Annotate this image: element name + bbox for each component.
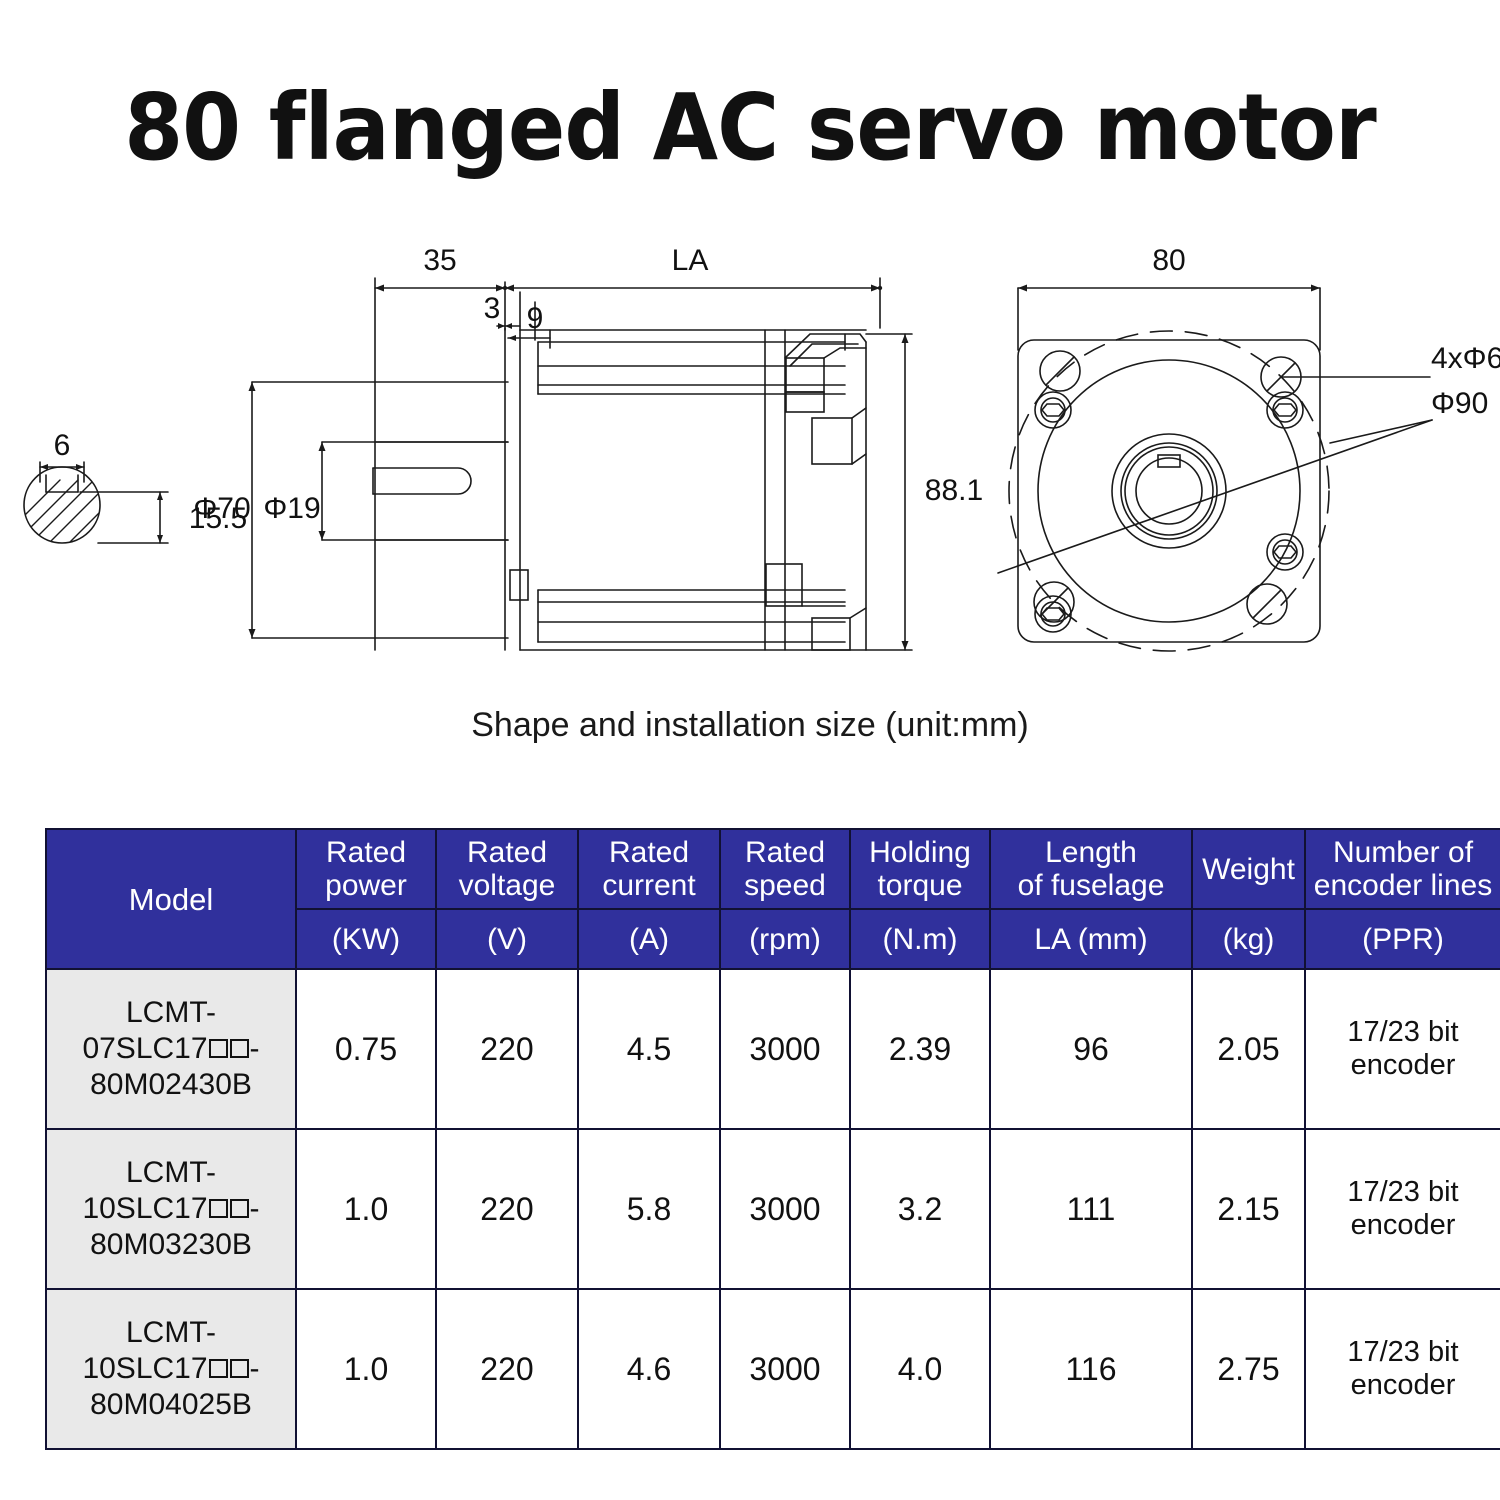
placeholder-box-icon (209, 1359, 228, 1378)
model-line2-suffix: - (250, 1192, 260, 1225)
cell-encoder: 17/23 bit encoder (1305, 1129, 1500, 1289)
col-header-rated-power: Rated power (296, 829, 436, 909)
cell-weight: 2.05 (1192, 969, 1305, 1129)
placeholder-box-icon (230, 1359, 249, 1378)
cell-holding-torque: 3.2 (850, 1129, 990, 1289)
model-line3: 80M03230B (90, 1228, 252, 1261)
cell-rated-voltage: 220 (436, 969, 578, 1129)
col-header-rated-voltage: Rated voltage (436, 829, 578, 909)
col-header-line2: voltage (459, 869, 556, 902)
header-row-labels: Model Rated power Rated voltage Rated cu… (46, 829, 1500, 909)
model-line3: 80M02430B (90, 1068, 252, 1101)
encoder-line1: 17/23 bit (1347, 1016, 1458, 1048)
cell-rated-speed: 3000 (720, 1129, 850, 1289)
placeholder-box-icon (230, 1199, 249, 1218)
cell-weight: 2.15 (1192, 1129, 1305, 1289)
cell-rated-voltage: 220 (436, 1129, 578, 1289)
col-header-line1: Length (1045, 836, 1137, 869)
dim-label-phi70: Φ70 (193, 492, 250, 525)
dim-label-9: 9 (527, 302, 544, 335)
encoder-line2: encoder (1351, 1049, 1456, 1081)
spec-table: Model Rated power Rated voltage Rated cu… (45, 828, 1500, 1450)
encoder-line1: 17/23 bit (1347, 1176, 1458, 1208)
cell-encoder: 17/23 bit encoder (1305, 969, 1500, 1129)
table-row: LCMT- 10SLC17- 80M04025B 1.0 220 4.6 300… (46, 1289, 1500, 1449)
col-header-line1: Rated (609, 836, 689, 869)
cell-model: LCMT- 10SLC17- 80M04025B (46, 1289, 296, 1449)
col-header-line1: Rated (467, 836, 547, 869)
cell-rated-speed: 3000 (720, 969, 850, 1129)
placeholder-box-icon (209, 1039, 228, 1058)
dim-label-88-1: 88.1 (925, 474, 983, 507)
placeholder-box-icon (209, 1199, 228, 1218)
cell-length: 96 (990, 969, 1192, 1129)
mounting-hole-group (1034, 351, 1301, 624)
dim-label-4xphi6-5: 4xΦ6.5 (1431, 342, 1500, 375)
encoder-line2: encoder (1351, 1369, 1456, 1401)
cell-holding-torque: 2.39 (850, 969, 990, 1129)
model-line1: LCMT- (126, 1316, 216, 1349)
col-unit-weight: (kg) (1192, 909, 1305, 969)
col-header-line1: Weight (1202, 853, 1295, 886)
cell-holding-torque: 4.0 (850, 1289, 990, 1449)
encoder-line1: 17/23 bit (1347, 1336, 1458, 1368)
col-header-line1: Holding (869, 836, 971, 869)
placeholder-box-icon (230, 1039, 249, 1058)
dim-label-phi19: Φ19 (263, 492, 320, 525)
col-unit-rated-current: (A) (578, 909, 720, 969)
col-header-encoder-lines: Number of encoder lines (1305, 829, 1500, 909)
col-header-line2: speed (744, 869, 826, 902)
col-unit-rated-power: (KW) (296, 909, 436, 969)
col-header-rated-speed: Rated speed (720, 829, 850, 909)
spec-table-body: LCMT- 07SLC17- 80M02430B 0.75 220 4.5 30… (46, 969, 1500, 1449)
cell-length: 116 (990, 1289, 1192, 1449)
col-header-length-of-fuselage: Length of fuselage (990, 829, 1192, 909)
cell-rated-power: 1.0 (296, 1129, 436, 1289)
col-unit-rated-speed: (rpm) (720, 909, 850, 969)
encoder-line2: encoder (1351, 1209, 1456, 1241)
col-header-line1: Number of (1333, 836, 1473, 869)
model-line2-suffix: - (250, 1352, 260, 1385)
model-line2-prefix: 10SLC17 (82, 1352, 207, 1385)
col-header-line1: Rated (745, 836, 825, 869)
col-header-line2: power (325, 869, 407, 902)
col-header-rated-current: Rated current (578, 829, 720, 909)
page-title: 80 flanged AC servo motor (60, 78, 1440, 178)
cell-encoder: 17/23 bit encoder (1305, 1289, 1500, 1449)
col-unit-rated-voltage: (V) (436, 909, 578, 969)
cell-rated-speed: 3000 (720, 1289, 850, 1449)
side-elevation-view (249, 278, 913, 650)
dim-label-phi90: Φ90 (1431, 387, 1488, 420)
model-line2-prefix: 07SLC17 (82, 1032, 207, 1065)
col-unit-length: LA (mm) (990, 909, 1192, 969)
model-line3: 80M04025B (90, 1388, 252, 1421)
cell-rated-current: 4.6 (578, 1289, 720, 1449)
col-header-holding-torque: Holding torque (850, 829, 990, 909)
cell-rated-voltage: 220 (436, 1289, 578, 1449)
model-line1: LCMT- (126, 1156, 216, 1189)
model-line2-suffix: - (250, 1032, 260, 1065)
col-header-line2: torque (877, 869, 962, 902)
col-unit-holding-torque: (N.m) (850, 909, 990, 969)
spec-table-head: Model Rated power Rated voltage Rated cu… (46, 829, 1500, 969)
cell-model: LCMT- 10SLC17- 80M03230B (46, 1129, 296, 1289)
table-row: LCMT- 07SLC17- 80M02430B 0.75 220 4.5 30… (46, 969, 1500, 1129)
col-header-line1: Rated (326, 836, 406, 869)
model-line2-prefix: 10SLC17 (82, 1192, 207, 1225)
cell-length: 111 (990, 1129, 1192, 1289)
col-header-model: Model (46, 829, 296, 969)
model-line1: LCMT- (126, 996, 216, 1029)
dim-label-6: 6 (54, 429, 71, 462)
shaft-cross-section (10, 462, 168, 584)
dim-label-3: 3 (484, 292, 501, 325)
cell-rated-current: 4.5 (578, 969, 720, 1129)
col-header-line2: of fuselage (1018, 869, 1165, 902)
dim-label-LA: LA (672, 244, 709, 277)
col-unit-encoder: (PPR) (1305, 909, 1500, 969)
cell-rated-current: 5.8 (578, 1129, 720, 1289)
dim-label-80: 80 (1152, 244, 1185, 277)
table-row: LCMT- 10SLC17- 80M03230B 1.0 220 5.8 300… (46, 1129, 1500, 1289)
cell-model: LCMT- 07SLC17- 80M02430B (46, 969, 296, 1129)
cell-rated-power: 1.0 (296, 1289, 436, 1449)
col-header-weight: Weight (1192, 829, 1305, 909)
dim-label-35: 35 (423, 244, 456, 277)
cell-weight: 2.75 (1192, 1289, 1305, 1449)
flange-end-view (998, 285, 1432, 652)
col-header-line2: current (602, 869, 695, 902)
drawing-caption: Shape and installation size (unit:mm) (0, 706, 1500, 745)
cell-rated-power: 0.75 (296, 969, 436, 1129)
technical-drawing: 6 15.5 35 LA 3 9 Φ70 Φ19 88.1 80 4xΦ6.5 … (0, 230, 1500, 700)
col-header-line2: encoder lines (1314, 869, 1492, 902)
spec-table-container: Model Rated power Rated voltage Rated cu… (45, 828, 1460, 1450)
